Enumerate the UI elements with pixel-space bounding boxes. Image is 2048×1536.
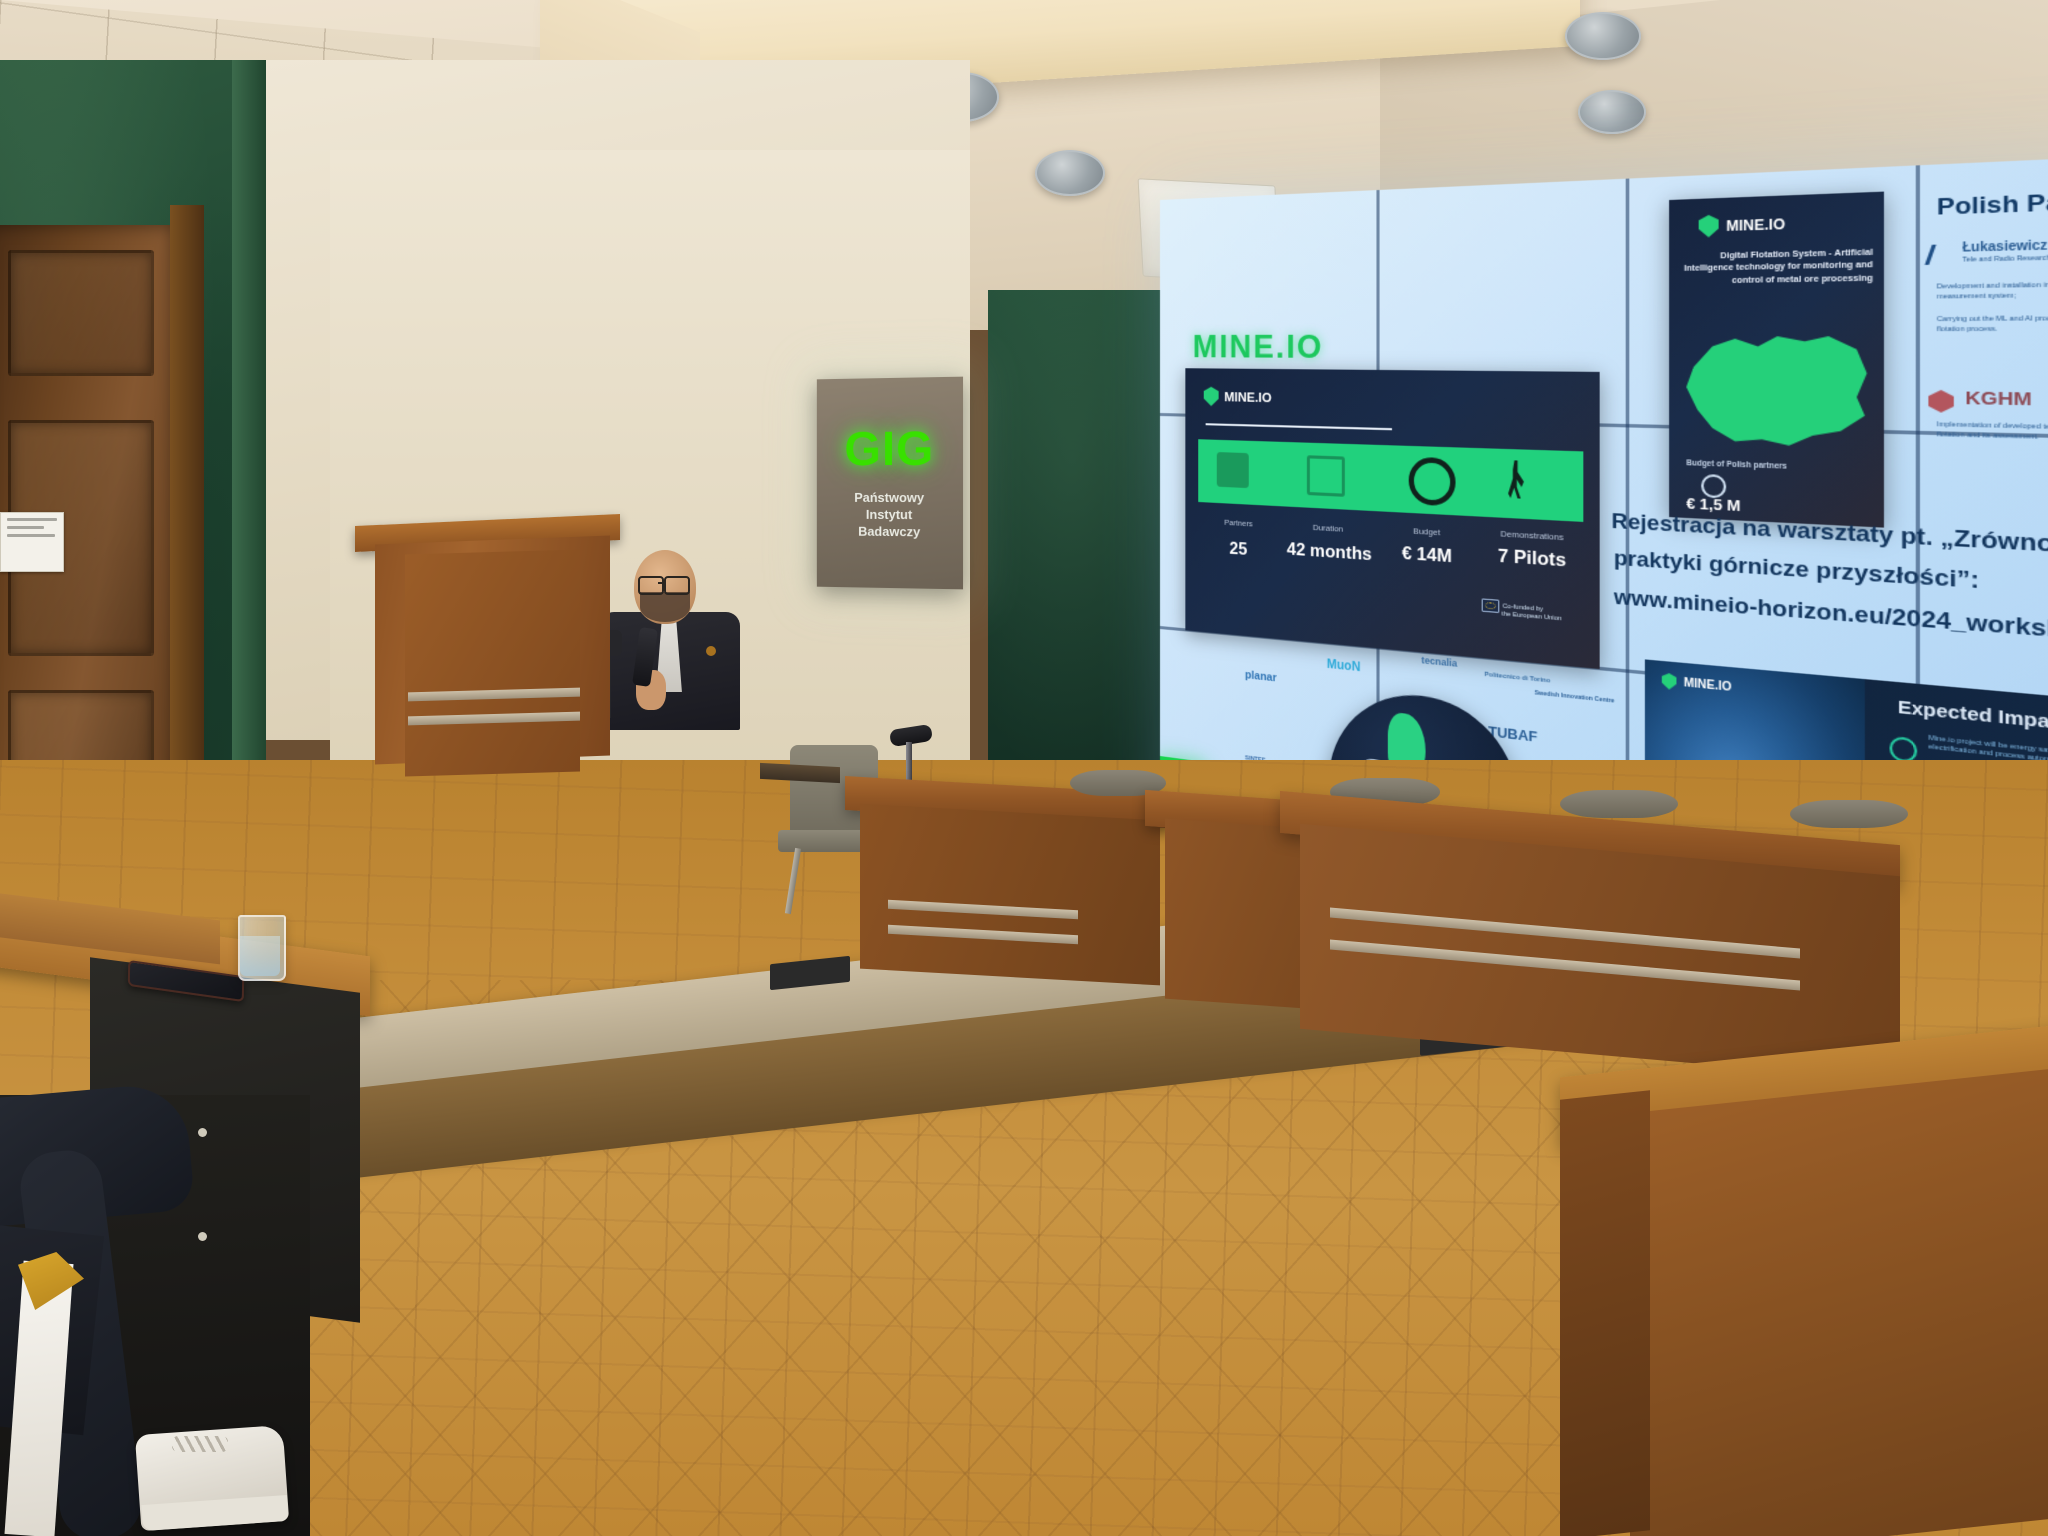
- expected-impact-heading: Expected Impact: [1898, 697, 2048, 735]
- right-foreground-desk-body: [1630, 1067, 2048, 1536]
- stats-band: [1198, 439, 1583, 522]
- speaker-glasses-icon: [638, 576, 664, 595]
- mineio-logo: MINE.IO: [1699, 212, 1785, 237]
- stat-value: € 14M: [1380, 541, 1476, 569]
- glasses-bridge: [658, 582, 666, 584]
- seat-cushion: [1560, 790, 1678, 818]
- ceiling-speaker-icon: [1578, 90, 1646, 134]
- partner-logo: planar: [1245, 669, 1277, 685]
- presidium-table-body: [860, 804, 1160, 986]
- partner-logo: MuoN: [1327, 656, 1361, 674]
- gig-sign-line3: Badawczy: [817, 523, 963, 541]
- eu-badge-line2: the European Union: [1502, 611, 1562, 623]
- stat-value: 25: [1196, 536, 1281, 562]
- partner-logo: Swedish Innovation Centre: [1542, 691, 1607, 705]
- flotation-subtitle: Digital Flotation System - Artificial In…: [1681, 246, 1873, 287]
- stat-value: 42 months: [1278, 538, 1382, 566]
- water-in-glass: [240, 936, 280, 976]
- partner-logo: Politecnico di Torino: [1488, 672, 1546, 686]
- stat-value: 7 Pilots: [1471, 544, 1595, 574]
- chair-stud: [198, 1232, 207, 1241]
- poland-map-icon: [1679, 320, 1873, 453]
- ceiling-speaker-icon: [1565, 12, 1641, 60]
- stat-label: Duration: [1283, 521, 1373, 536]
- stat-label: Demonstrations: [1473, 527, 1593, 544]
- conference-hall-photo: GIG Państwowy Instytut Badawczy MINE.IO …: [0, 0, 2048, 1536]
- mineio-logo-text: MINE.IO: [1684, 676, 1732, 694]
- right-desk-leg: [1560, 1090, 1650, 1536]
- seat-cushion: [1790, 800, 1908, 828]
- mineio-logo-text: MINE.IO: [1224, 389, 1271, 405]
- slide-title: MINE.IO: [1193, 327, 1324, 366]
- lectern-front: [405, 550, 580, 777]
- registration-line2: praktyki górnicze przyszłości”:: [1614, 546, 1980, 595]
- stat-label: Budget: [1380, 524, 1476, 539]
- speaker-glasses-icon: [664, 576, 690, 595]
- polish-flotation-card: MINE.IO Digital Flotation System - Artif…: [1669, 192, 1884, 528]
- partner-bullet: Implementation of developed technology i…: [1937, 420, 2048, 448]
- eu-flag-icon: [1482, 598, 1500, 613]
- partner-name: Łukasiewicz: [1962, 239, 2047, 255]
- partner-sub: Tele and Radio Research Institute: [1962, 254, 2048, 264]
- divider-arrow: [1206, 423, 1392, 430]
- mineio-shield-icon: [1662, 673, 1677, 691]
- door-panel: [8, 250, 154, 376]
- chair-stud: [198, 1128, 207, 1137]
- partner-name: KGHM: [1965, 388, 2032, 411]
- door-placard: [0, 512, 64, 572]
- gig-logo-text: GIG: [817, 421, 963, 477]
- mineio-shield-icon: [1699, 215, 1719, 238]
- shoe-laces: [172, 1436, 228, 1452]
- speaker-beard: [640, 592, 690, 622]
- project-overview-card: MINE.IO Partners Duration Budget Demonst…: [1185, 368, 1599, 669]
- lukasiewicz-logo-icon: [1925, 244, 1962, 265]
- polish-budget-value: € 1,5 M: [1686, 494, 1740, 514]
- partner-logo: tecnalia: [1421, 655, 1457, 669]
- mineio-logo: MINE.IO: [1204, 387, 1272, 408]
- people-icon: [1217, 452, 1249, 488]
- kghm-logo-icon: [1928, 390, 1953, 413]
- registration-url[interactable]: www.mineio-horizon.eu/2024_workshop: [1614, 585, 2048, 647]
- stat-label: Partners: [1196, 516, 1281, 530]
- calendar-icon: [1307, 455, 1345, 497]
- gig-institute-sign: GIG Państwowy Instytut Badawczy: [817, 377, 963, 590]
- mineio-logo-text: MINE.IO: [1726, 215, 1785, 234]
- ceiling-speaker-icon: [1035, 150, 1105, 196]
- lapel-pin: [706, 646, 716, 656]
- partner-bullet: Development and installation in KGHM the…: [1937, 278, 2048, 303]
- gig-sign-line2: Instytut: [817, 506, 963, 524]
- gig-sign-line1: Państwowy: [817, 489, 963, 507]
- mineio-shield-icon: [1204, 387, 1219, 407]
- polish-partners-heading: Polish Partners: [1937, 187, 2048, 222]
- partner-bullet: Carrying out the ML and AI processes in …: [1937, 313, 2048, 336]
- polish-budget-label: Budget of Polish partners: [1686, 459, 1787, 471]
